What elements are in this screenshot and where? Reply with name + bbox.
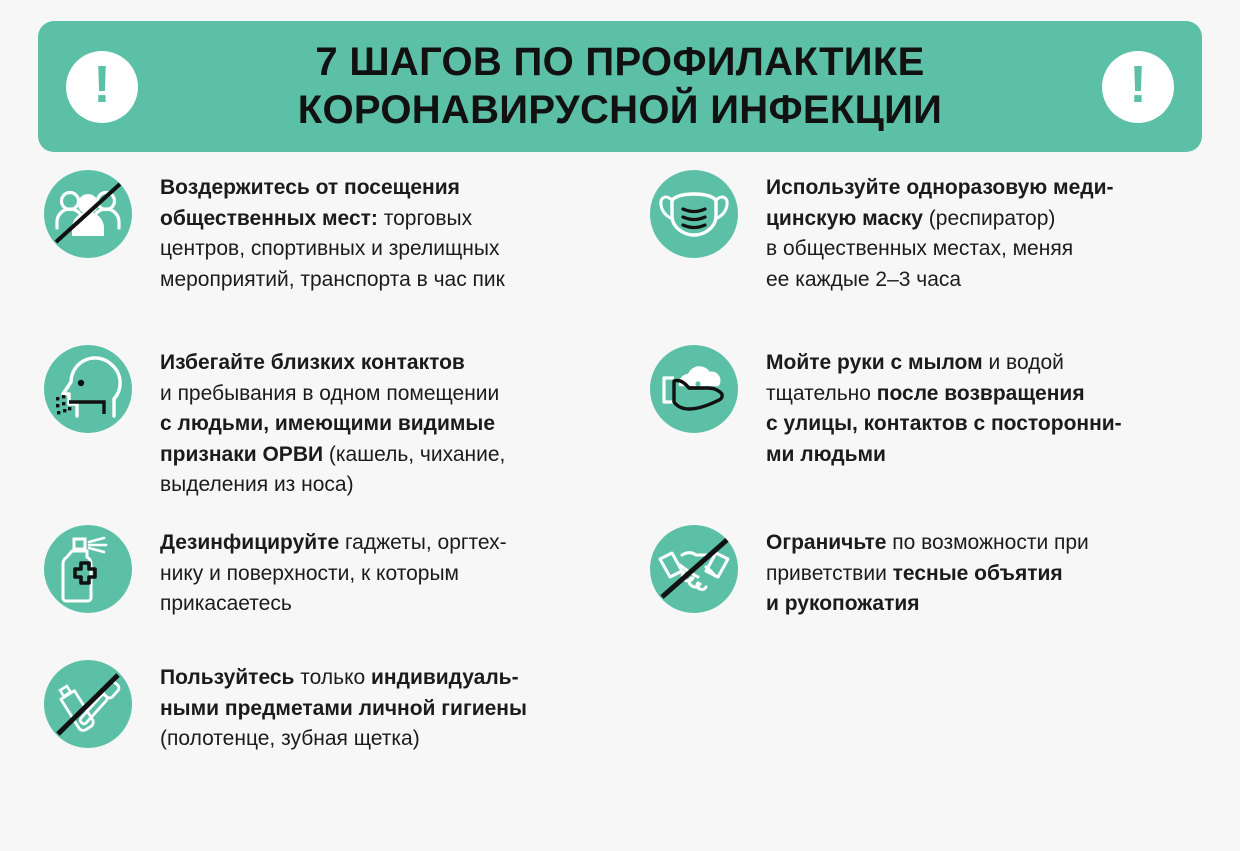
tip-text: Ограничьте по возможности при приветстви… [766,525,1089,620]
tip-text: Воздержитесь от посещения общественных м… [160,170,505,295]
tip-text: Используйте одноразовую меди- цинскую ма… [766,170,1114,295]
tip-item: Пользуйтесь только индивидуаль- ными пре… [44,660,527,755]
tip-text: Избегайте близких контактов и пребывания… [160,345,505,501]
spray-bottle-disinfectant-icon [44,525,132,613]
poster-header: ! 7 ШАГОВ ПО ПРОФИЛАКТИКЕ КОРОНАВИРУСНОЙ… [38,21,1202,152]
handshake-crossed-out-icon [650,525,738,613]
medical-mask-icon [650,170,738,258]
toothbrush-toothpaste-crossed-out-icon [44,660,132,748]
exclamation-icon: ! [93,59,110,111]
people-group-crossed-out-icon [44,170,132,258]
tip-text: Мойте руки с мылом и водой тщательно пос… [766,345,1122,470]
tip-item: Дезинфицируйте гаджеты, оргтех- нику и п… [44,525,507,620]
tip-text: Пользуйтесь только индивидуаль- ными пре… [160,660,527,755]
page-title: 7 ШАГОВ ПО ПРОФИЛАКТИКЕ КОРОНАВИРУСНОЙ И… [138,39,1102,133]
poster-root: ! 7 ШАГОВ ПО ПРОФИЛАКТИКЕ КОРОНАВИРУСНОЙ… [0,0,1240,851]
exclamation-icon: ! [1129,59,1146,111]
coughing-head-icon [44,345,132,433]
exclamation-badge-left: ! [66,51,138,123]
tip-text: Дезинфицируйте гаджеты, оргтех- нику и п… [160,525,507,620]
exclamation-badge-right: ! [1102,51,1174,123]
tip-item: Ограничьте по возможности при приветстви… [650,525,1089,620]
hand-washing-soap-icon [650,345,738,433]
tip-item: Избегайте близких контактов и пребывания… [44,345,505,501]
tip-item: Мойте руки с мылом и водой тщательно пос… [650,345,1122,470]
tip-item: Используйте одноразовую меди- цинскую ма… [650,170,1114,295]
tip-item: Воздержитесь от посещения общественных м… [44,170,505,295]
